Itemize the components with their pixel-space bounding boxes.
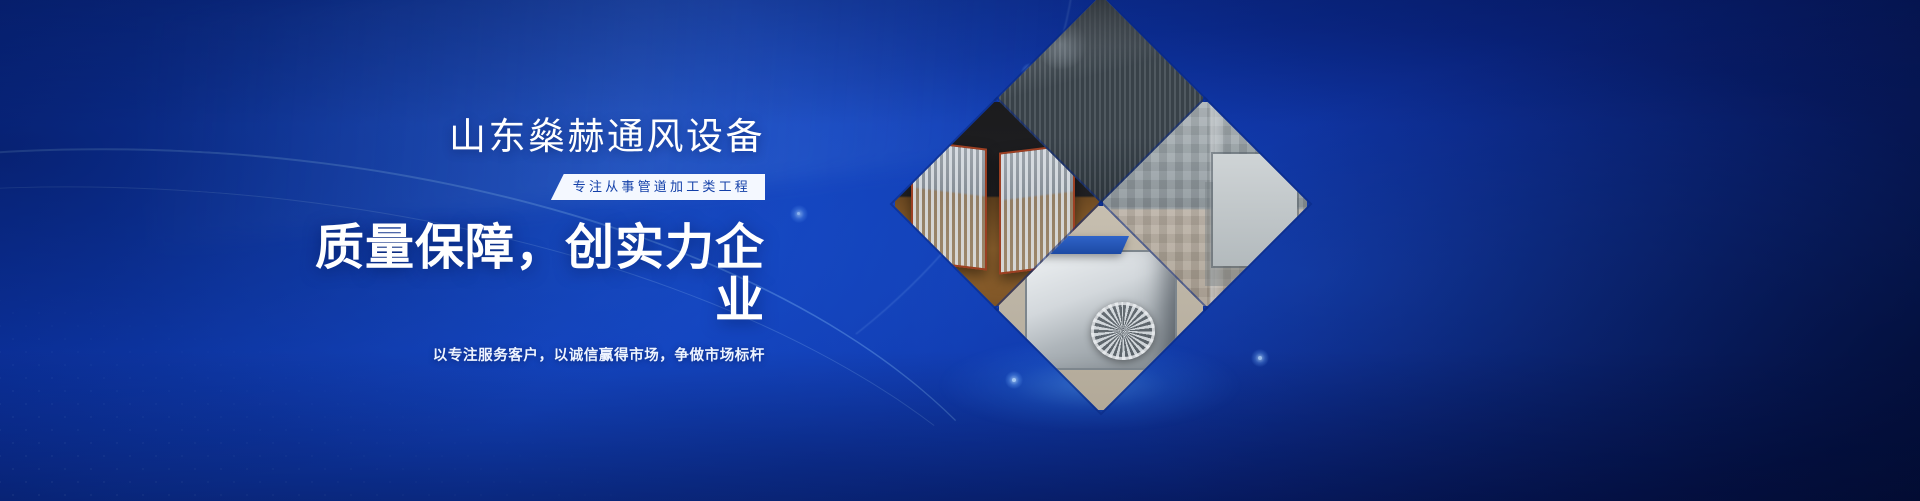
hero-copy-block: 山东燊赫通风设备 专注从事管道加工类工程 质量保障，创实力企业 以专注服务客户，… (300, 118, 765, 365)
fan-wheel-detail (1091, 302, 1155, 360)
hero-headline: 质量保障，创实力企业 (300, 222, 765, 328)
badge-row: 专注从事管道加工类工程 (300, 174, 765, 200)
diamond-photo-collage (808, 28, 1248, 388)
sparkle-icon (1258, 356, 1262, 360)
company-name: 山东燊赫通风设备 (300, 118, 765, 157)
specialty-badge: 专注从事管道加工类工程 (551, 174, 765, 200)
hero-banner: 山东燊赫通风设备 专注从事管道加工类工程 质量保障，创实力企业 以专注服务客户，… (0, 0, 1920, 501)
hero-subline: 以专注服务客户，以诚信赢得市场，争做市场标杆 (300, 344, 765, 365)
sparkle-icon (797, 212, 800, 215)
